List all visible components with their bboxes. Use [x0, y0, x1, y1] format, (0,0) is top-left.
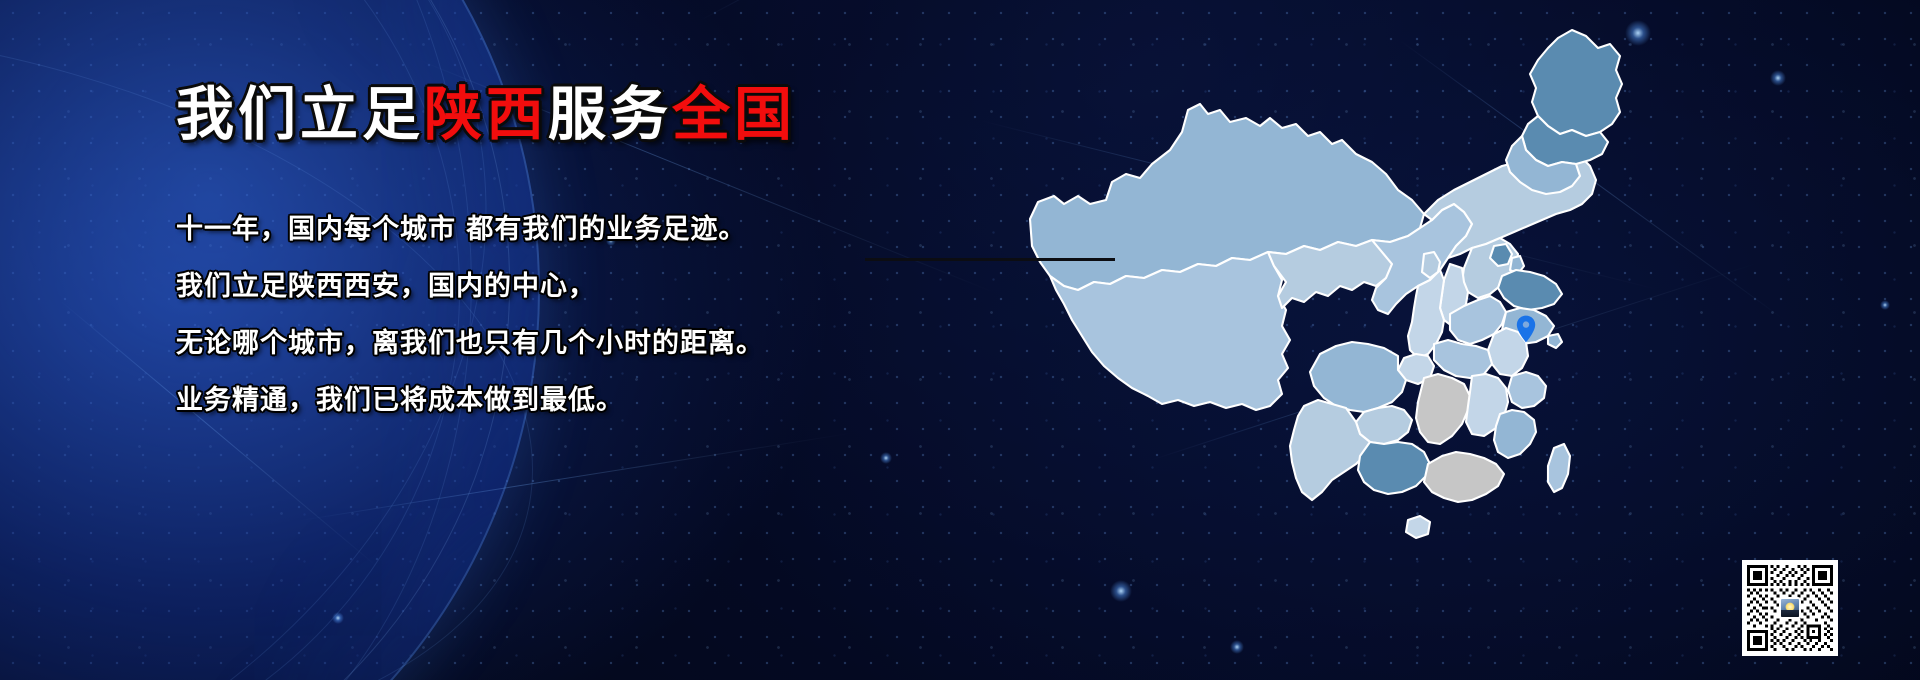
- province-shanghai: [1548, 334, 1562, 348]
- province-heilongjiang: [1530, 30, 1622, 136]
- location-pin[interactable]: [1516, 315, 1536, 343]
- province-yunnan: [1290, 400, 1370, 500]
- province-taiwan: [1548, 444, 1570, 492]
- hero-body-lines: 十一年，国内每个城市 都有我们的业务足迹。 我们立足陕西西安，国内的中心， 无论…: [176, 201, 936, 429]
- star-glow: [1230, 640, 1244, 654]
- body-line: 我们立足陕西西安，国内的中心，: [176, 258, 936, 315]
- star-glow: [1110, 580, 1132, 602]
- wechat-qr-code[interactable]: [1742, 560, 1838, 656]
- province-hubei: [1434, 340, 1492, 378]
- star-glow: [332, 612, 344, 624]
- china-map: [1020, 14, 1660, 574]
- star-glow: [1880, 300, 1890, 310]
- qr-logo-land: [1781, 610, 1799, 617]
- province-zhejiang: [1508, 372, 1546, 408]
- hero-banner: 我们立足陕西服务全国 十一年，国内每个城市 都有我们的业务足迹。 我们立足陕西西…: [0, 0, 1920, 680]
- headline-segment-4: 全国: [672, 80, 796, 148]
- body-line: 无论哪个城市，离我们也只有几个小时的距离。: [176, 315, 936, 372]
- province-fujian: [1494, 410, 1536, 458]
- body-line: 十一年，国内每个城市 都有我们的业务足迹。: [176, 201, 936, 258]
- star-glow: [1770, 70, 1786, 86]
- province-shandong: [1498, 270, 1562, 310]
- hero-text-block: 我们立足陕西服务全国 十一年，国内每个城市 都有我们的业务足迹。 我们立足陕西西…: [176, 84, 936, 429]
- body-line: 业务精通，我们已将成本做到最低。: [176, 372, 936, 429]
- star-glow: [880, 452, 892, 464]
- province-hunan: [1416, 374, 1470, 444]
- headline-segment-2: 陕西: [424, 80, 548, 148]
- headline-segment-3: 服务: [548, 80, 672, 148]
- qr-center-logo: [1779, 597, 1801, 619]
- hero-headline: 我们立足陕西服务全国: [176, 84, 936, 145]
- province-guangdong: [1424, 452, 1504, 502]
- headline-segment-1: 我们立足: [176, 80, 424, 148]
- province-guangxi: [1358, 442, 1430, 494]
- province-beijing: [1490, 244, 1512, 266]
- horizontal-rule: [865, 258, 1115, 261]
- province-hainan: [1406, 516, 1430, 538]
